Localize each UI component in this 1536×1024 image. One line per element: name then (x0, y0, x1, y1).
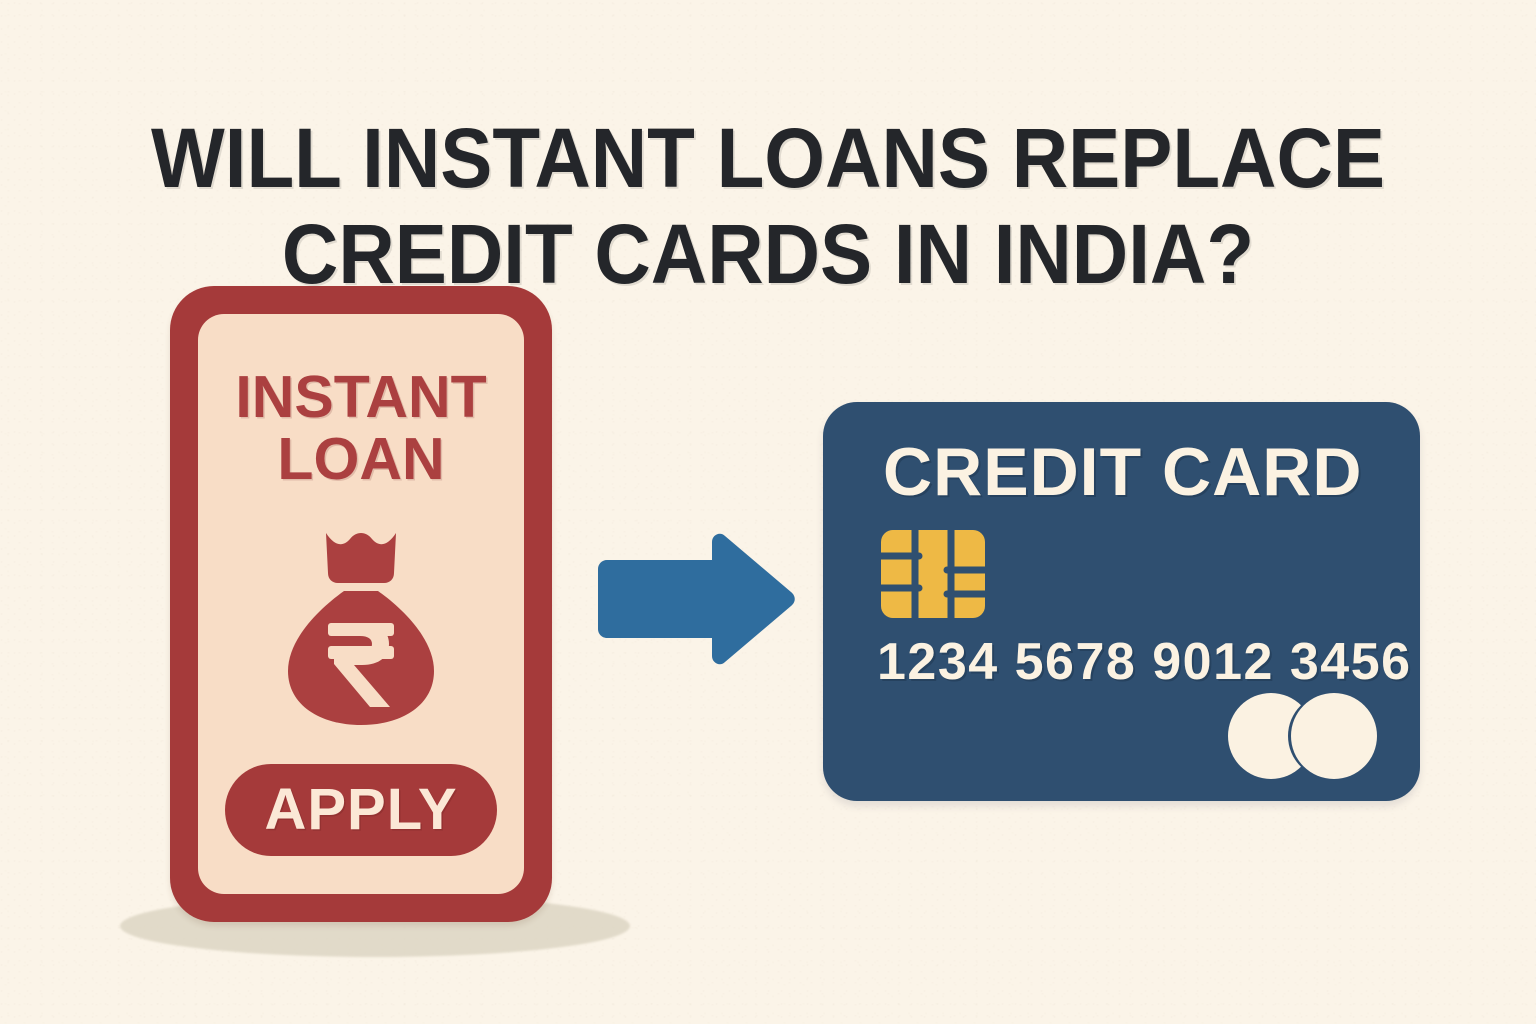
page-title: WILL INSTANT LOANS REPLACE CREDIT CARDS … (54, 110, 1482, 302)
emv-chip-icon (881, 530, 985, 618)
credit-card-title: CREDIT CARD (883, 436, 1362, 508)
arrow-right-icon (592, 533, 797, 665)
instant-loan-heading-line-1: INSTANT (198, 366, 524, 428)
logo-circle-right (1291, 693, 1377, 779)
credit-card-number: 1234 5678 9012 3456 (877, 634, 1412, 690)
credit-card: CREDIT CARD 1234 5678 9012 3456 (823, 402, 1420, 801)
two-circles-payment-network-icon (1228, 693, 1386, 779)
apply-button[interactable]: APPLY (225, 764, 497, 856)
instant-loan-phone: INSTANT LOAN APPLY (170, 286, 552, 922)
instant-loan-heading: INSTANT LOAN (198, 366, 524, 490)
infographic-canvas: WILL INSTANT LOANS REPLACE CREDIT CARDS … (0, 0, 1536, 1024)
money-bag-rupee-icon (266, 529, 456, 729)
phone-screen: INSTANT LOAN APPLY (198, 314, 524, 894)
instant-loan-heading-line-2: LOAN (198, 428, 524, 490)
page-title-line-1: WILL INSTANT LOANS REPLACE (54, 110, 1482, 206)
